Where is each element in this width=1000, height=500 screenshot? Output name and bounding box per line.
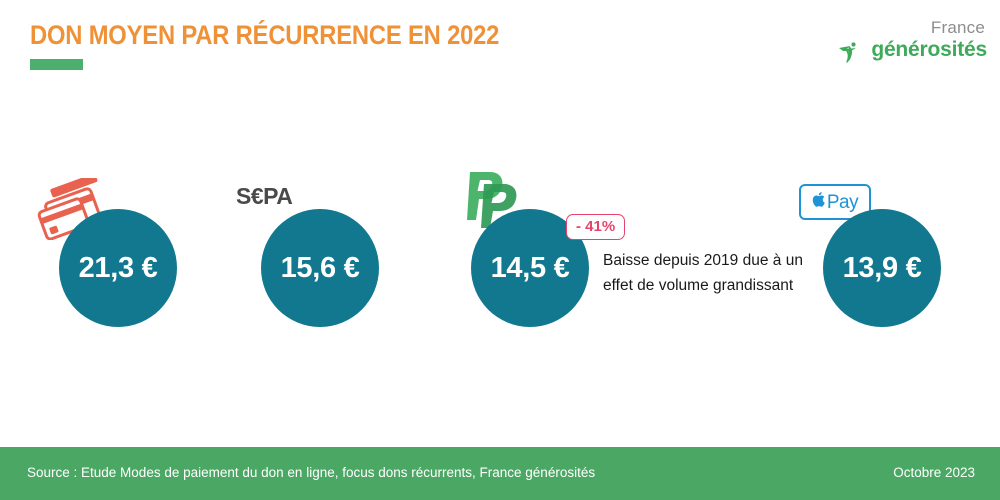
logo-text-generosites: générosités — [871, 38, 987, 62]
metric-apple-pay: 13,9 € — [823, 209, 941, 327]
logo-text-france: France — [931, 18, 985, 38]
metric-circle: 13,9 € — [823, 209, 941, 327]
page-title: DON MOYEN PAR RÉCURRENCE EN 2022 — [30, 20, 499, 51]
metric-circle: 21,3 € — [59, 209, 177, 327]
footer-source-text: Source : Etude Modes de paiement du don … — [27, 465, 595, 480]
metric-value: 15,6 € — [281, 252, 360, 285]
metric-value: 13,9 € — [843, 252, 922, 285]
metric-value: 14,5 € — [491, 252, 570, 285]
brand-logo-france-generosites: France générosités — [832, 18, 987, 68]
metric-value: 21,3 € — [79, 252, 158, 285]
footer-bar: Source : Etude Modes de paiement du don … — [0, 447, 1000, 500]
title-underline-accent — [30, 59, 83, 70]
metric-sepa: 15,6 € — [261, 209, 379, 327]
header: DON MOYEN PAR RÉCURRENCE EN 2022 France … — [0, 0, 1000, 95]
footer-date-text: Octobre 2023 — [893, 465, 975, 480]
sepa-logo: S€PA — [236, 183, 292, 210]
status-badge-decline: - 41% — [566, 214, 625, 240]
metric-carte-bancaire: 21,3 € — [59, 209, 177, 327]
annotation-text: Baisse depuis 2019 due à un effet de vol… — [603, 248, 808, 298]
running-figure-icon — [836, 37, 864, 65]
metric-circle: 15,6 € — [261, 209, 379, 327]
